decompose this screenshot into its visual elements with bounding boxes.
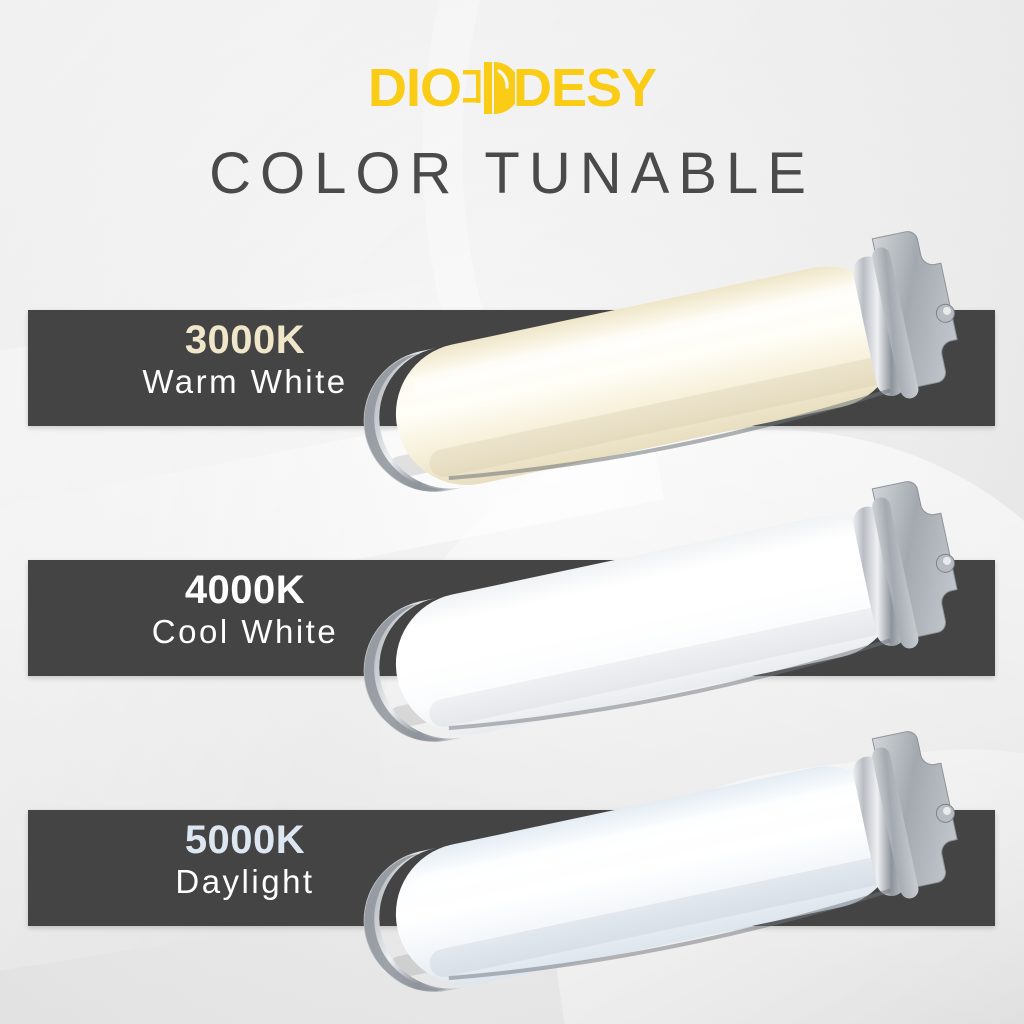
- cct-banner: 3000K Warm White: [28, 310, 995, 426]
- cct-kelvin-label: 5000K: [95, 818, 395, 863]
- cct-kelvin-label: 4000K: [95, 568, 395, 613]
- cct-banner-text: 4000K Cool White: [95, 568, 395, 651]
- cct-banner-text: 5000K Daylight: [95, 818, 395, 901]
- cct-name-label: Daylight: [95, 863, 395, 901]
- brand-logo-text-left: DIO: [368, 61, 461, 115]
- cct-banner-text: 3000K Warm White: [95, 318, 395, 401]
- cct-name-label: Warm White: [95, 363, 395, 401]
- cct-banner: 5000K Daylight: [28, 810, 995, 926]
- cct-row-4000k: 4000K Cool White: [0, 490, 1024, 760]
- page-title: COLOR TUNABLE: [0, 140, 1024, 207]
- cct-kelvin-label: 3000K: [95, 318, 395, 363]
- cct-row-3000k: 3000K Warm White: [0, 240, 1024, 510]
- cct-banner: 4000K Cool White: [28, 560, 995, 676]
- brand-logo-text-right: DESY: [513, 61, 656, 115]
- cct-row-5000k: 5000K Daylight: [0, 740, 1024, 1010]
- brand-logo: DIO DESY: [0, 58, 1024, 118]
- cct-name-label: Cool White: [95, 613, 395, 651]
- lamp-icon: [463, 60, 515, 116]
